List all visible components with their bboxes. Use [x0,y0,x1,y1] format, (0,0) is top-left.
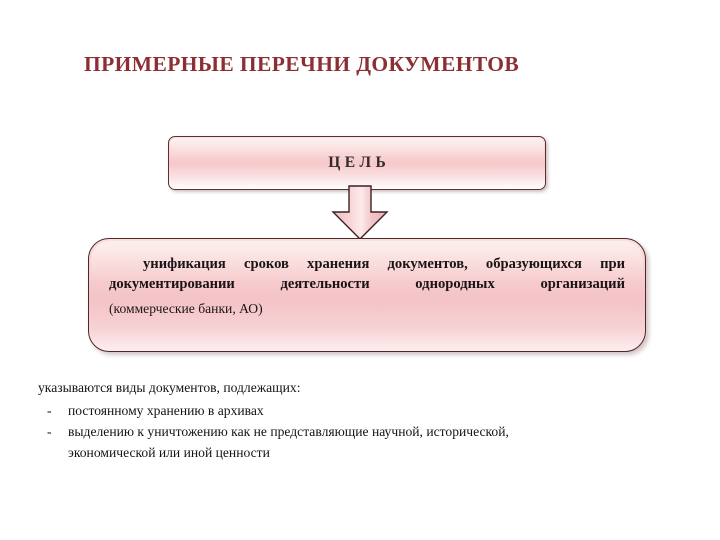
list-item: - постоянному хранению в архивах [38,401,693,422]
content-box-sub-text: (коммерческие банки, АО) [103,299,631,319]
bottom-lead-text: указываются виды документов, подлежащих: [38,378,693,399]
slide-canvas: ПРИМЕРНЫЕ ПЕРЕЧНИ ДОКУМЕНТОВ ЦЕЛЬ унифик… [0,0,720,540]
goal-box: ЦЕЛЬ [168,136,546,190]
list-item-line: выделению к уничтожению как не представл… [68,422,693,443]
content-box: унификация сроков хранения документов, о… [88,238,646,352]
list-item-text: постоянному хранению в архивах [68,401,693,422]
list-item-line: экономической или иной ценности [68,443,693,464]
page-title: ПРИМЕРНЫЕ ПЕРЕЧНИ ДОКУМЕНТОВ [84,52,664,78]
bullet-dash-icon: - [38,422,68,443]
bottom-text-block: указываются виды документов, подлежащих:… [38,378,693,465]
arrow-down-icon [331,185,389,241]
list-item-line: постоянному хранению в архивах [68,401,693,422]
bullet-dash-icon: - [38,401,68,422]
list-item: - выделению к уничтожению как не предста… [38,422,693,463]
goal-box-label: ЦЕЛЬ [324,154,391,172]
content-box-main-text: унификация сроков хранения документов, о… [103,254,631,294]
list-item-text: выделению к уничтожению как не представл… [68,422,693,463]
